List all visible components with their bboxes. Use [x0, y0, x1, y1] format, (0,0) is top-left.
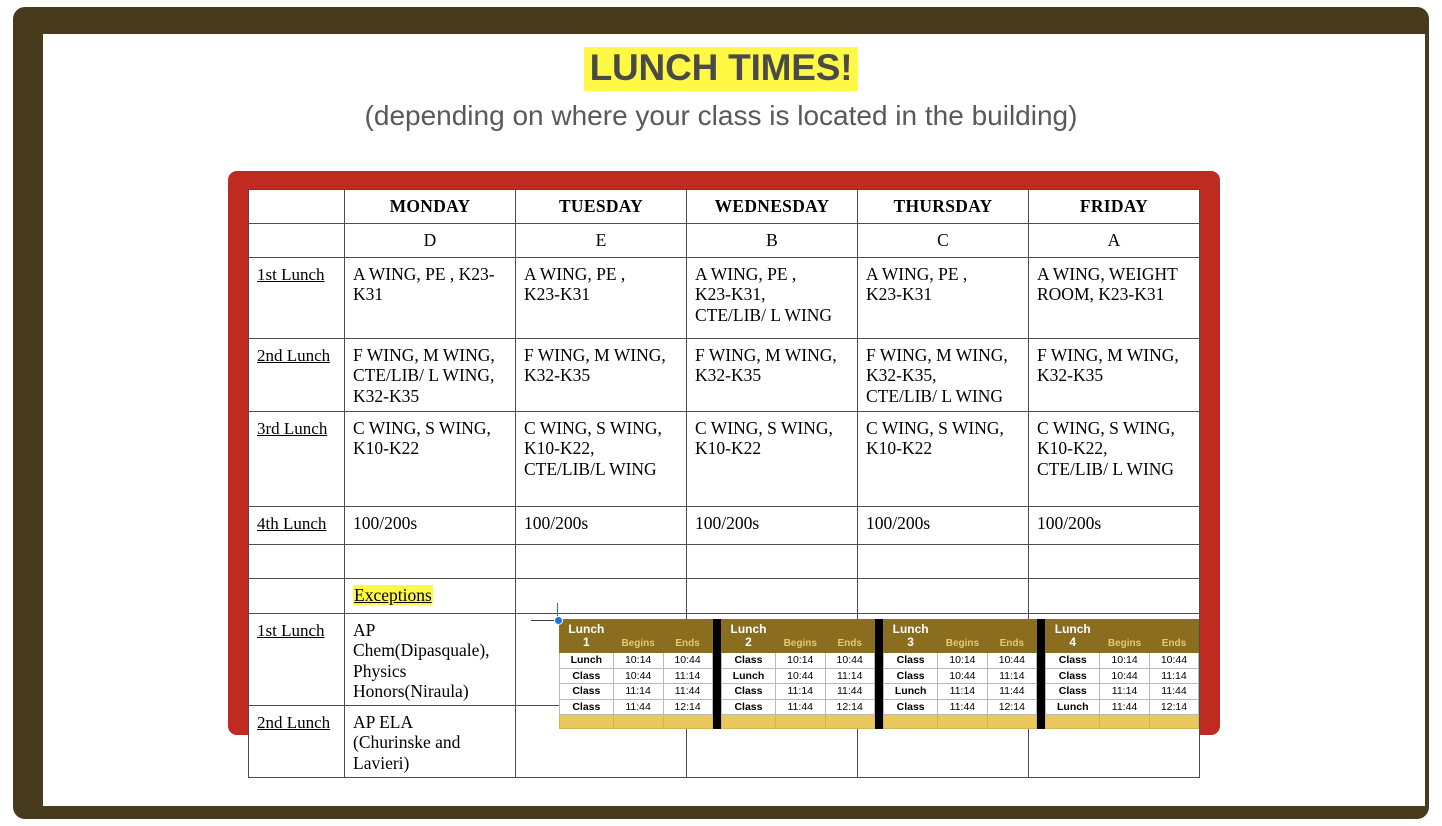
schedule-cell-r1-c3: F WING, M WING, K32-K35, CTE/LIB/ L WING: [858, 339, 1029, 412]
lunch-period-table-2: Lunch2BeginsEndsClass10:1410:44Lunch10:4…: [721, 619, 875, 729]
lunch-row-begins: 10:44: [613, 668, 663, 684]
lunch-table-title-1: Lunch1: [560, 620, 614, 653]
lunch-row-begins: 11:14: [775, 684, 825, 700]
schedule-cell-r3-c4-text: 100/200s: [1037, 513, 1101, 533]
page-title: LUNCH TIMES!: [584, 47, 859, 91]
lunch-footer-cell: [987, 715, 1036, 729]
lunch-row-name: Lunch: [722, 668, 776, 684]
schedule-cell-r0-c2: A WING, PE , K23-K31, CTE/LIB/ L WING: [687, 258, 858, 339]
lunch-row-ends: 12:14: [663, 699, 712, 715]
lunch-table-row: Lunch11:4412:14: [1046, 699, 1199, 715]
schedule-cell-r0-c4-text: A WING, WEIGHT ROOM, K23-K31: [1037, 264, 1178, 304]
day-letter-wednesday: B: [687, 224, 858, 258]
lunch-row-ends: 10:44: [663, 653, 712, 669]
lunch-footer-cell: [825, 715, 874, 729]
lunch-table-row: Class10:1410:44: [884, 653, 1037, 669]
lunch-table-header-row: Lunch3BeginsEnds: [884, 620, 1037, 653]
lunch-row-name: Class: [560, 699, 614, 715]
day-header-thursday: THURSDAY: [858, 190, 1029, 224]
day-header-friday: FRIDAY: [1029, 190, 1200, 224]
lunch-table-separator: [875, 619, 884, 729]
lunch-row-ends: 11:44: [1149, 684, 1198, 700]
schedule-cell-r0-c0-text: A WING, PE , K23-K31: [353, 264, 495, 304]
schedule-cell-r4-c3: [858, 545, 1029, 579]
lunch-period-table-1: Lunch1BeginsEndsLunch10:1410:44Class10:4…: [559, 619, 713, 729]
lunch-row-begins: 11:44: [613, 699, 663, 715]
lunch-footer-cell: [884, 715, 938, 729]
row-label-text: 4th Lunch: [257, 514, 326, 533]
schedule-cell-r2-c4: C WING, S WING, K10-K22, CTE/LIB/ L WING: [1029, 412, 1200, 507]
lunch-row-begins: 11:14: [613, 684, 663, 700]
schedule-cell-r4-c1: [516, 545, 687, 579]
lunch-row-ends: 10:44: [825, 653, 874, 669]
lunch-row-begins: 11:14: [937, 684, 987, 700]
exceptions-header-cell: Exceptions: [345, 579, 516, 614]
lunch-row-name: Class: [884, 668, 938, 684]
lunch-row-begins: 10:44: [1100, 668, 1150, 684]
schedule-cell-r4-c0: [345, 545, 516, 579]
lunch-footer-cell: [775, 715, 825, 729]
lunch-table-footer-band: [884, 715, 1037, 729]
exception-label-1st-lunch: 1st Lunch: [249, 614, 345, 706]
selection-guide-tick: [557, 603, 558, 616]
exceptions-corner-cell: [249, 579, 345, 614]
lunch-table-title-4: Lunch4: [1046, 620, 1100, 653]
lunch-footer-cell: [1046, 715, 1100, 729]
lunch-table-footer-band: [560, 715, 713, 729]
lunch-title-line2: 3: [884, 636, 937, 648]
schedule-cell-r3-c3: 100/200s: [858, 507, 1029, 545]
row-label-text: 1st Lunch: [257, 265, 325, 284]
exception-text-0-text: AP Chem(Dipasquale), Physics Honors(Nira…: [353, 620, 490, 701]
lunch-table-row: Class10:1410:44: [722, 653, 875, 669]
day-letter-friday: A: [1029, 224, 1200, 258]
lunch-col-header-begins: Begins: [775, 620, 825, 653]
lunch-table-row: Class10:4411:14: [884, 668, 1037, 684]
lunch-table-block-1: Lunch1BeginsEndsLunch10:1410:44Class10:4…: [559, 619, 721, 729]
schedule-cell-r2-c3-text: C WING, S WING, K10-K22: [866, 418, 1004, 458]
schedule-cell-r2-c2: C WING, S WING, K10-K22: [687, 412, 858, 507]
schedule-header-row: MONDAYTUESDAYWEDNESDAYTHURSDAYFRIDAY: [249, 190, 1200, 224]
lunch-table-row: Lunch10:1410:44: [560, 653, 713, 669]
lunch-title-line1: Lunch: [884, 623, 937, 635]
lunch-footer-cell: [937, 715, 987, 729]
lunch-row-name: Class: [560, 668, 614, 684]
lunch-row-name: Class: [1046, 653, 1100, 669]
lunch-table-header-row: Lunch4BeginsEnds: [1046, 620, 1199, 653]
lunch-row-ends: 10:44: [1149, 653, 1198, 669]
lunch-table-separator: [1037, 619, 1046, 729]
lunch-row-name: Class: [722, 653, 776, 669]
lunch-footer-cell: [663, 715, 712, 729]
lunch-table-title-3: Lunch3: [884, 620, 938, 653]
lunch-table-row: Class11:4412:14: [722, 699, 875, 715]
lunch-table-title-2: Lunch2: [722, 620, 776, 653]
exceptions-header-row: Exceptions: [249, 579, 1200, 614]
schedule-row-blank: [249, 545, 1200, 579]
schedule-row-1st-lunch: 1st LunchA WING, PE , K23-K31A WING, PE …: [249, 258, 1200, 339]
day-letter-thursday: C: [858, 224, 1029, 258]
exception-text-1: AP ELA (Churinske and Lavieri): [345, 706, 516, 778]
lunch-row-ends: 11:14: [825, 668, 874, 684]
lunch-period-tables-group: Lunch1BeginsEndsLunch10:1410:44Class10:4…: [559, 619, 1199, 729]
day-letter-corner-cell: [249, 224, 345, 258]
lunch-footer-cell: [1100, 715, 1150, 729]
lunch-col-header-ends: Ends: [1149, 620, 1198, 653]
lunch-row-begins: 11:14: [1100, 684, 1150, 700]
exception-label-2nd-lunch: 2nd Lunch: [249, 706, 345, 778]
day-header-wednesday-text: WEDNESDAY: [715, 196, 830, 216]
lunch-table-row: Class10:1410:44: [1046, 653, 1199, 669]
lunch-table-block-2: Lunch2BeginsEndsClass10:1410:44Lunch10:4…: [721, 619, 883, 729]
lunch-table-row: Lunch11:1411:44: [884, 684, 1037, 700]
lunch-row-name: Class: [884, 699, 938, 715]
lunch-table-block-4: Lunch4BeginsEndsClass10:1410:44Class10:4…: [1045, 619, 1199, 729]
lunch-title-line1: Lunch: [1046, 623, 1099, 635]
lunch-row-ends: 12:14: [1149, 699, 1198, 715]
day-letter-wednesday-text: B: [766, 230, 778, 250]
lunch-title-line1: Lunch: [722, 623, 775, 635]
lunch-row-name: Class: [1046, 684, 1100, 700]
lunch-row-begins: 10:14: [937, 653, 987, 669]
day-header-tuesday-text: TUESDAY: [559, 196, 643, 216]
schedule-table-frame: MONDAYTUESDAYWEDNESDAYTHURSDAYFRIDAYDEBC…: [228, 171, 1220, 735]
lunch-footer-cell: [722, 715, 776, 729]
lunch-title-line2: 2: [722, 636, 775, 648]
schedule-cell-r2-c3: C WING, S WING, K10-K22: [858, 412, 1029, 507]
row-label-3rd-lunch: 3rd Lunch: [249, 412, 345, 507]
schedule-cell-r2-c0-text: C WING, S WING, K10-K22: [353, 418, 491, 458]
row-label-1st-lunch: 1st Lunch: [249, 258, 345, 339]
lunch-row-begins: 10:14: [1100, 653, 1150, 669]
lunch-row-name: Lunch: [560, 653, 614, 669]
lunch-table-row: Class10:4411:14: [1046, 668, 1199, 684]
schedule-cell-r0-c4: A WING, WEIGHT ROOM, K23-K31: [1029, 258, 1200, 339]
lunch-col-header-begins: Begins: [613, 620, 663, 653]
lunch-row-begins: 10:44: [937, 668, 987, 684]
lunch-col-header-ends: Ends: [825, 620, 874, 653]
schedule-cell-r0-c2-text: A WING, PE , K23-K31, CTE/LIB/ L WING: [695, 264, 832, 325]
lunch-row-ends: 12:14: [825, 699, 874, 715]
day-letter-monday-text: D: [424, 230, 437, 250]
day-header-monday: MONDAY: [345, 190, 516, 224]
lunch-row-ends: 11:14: [987, 668, 1036, 684]
schedule-cell-r3-c4: 100/200s: [1029, 507, 1200, 545]
lunch-col-header-begins: Begins: [1100, 620, 1150, 653]
lunch-row-ends: 11:44: [663, 684, 712, 700]
schedule-cell-r0-c1-text: A WING, PE , K23-K31: [524, 264, 625, 304]
schedule-cell-r1-c2-text: F WING, M WING, K32-K35: [695, 345, 837, 385]
lunch-table-row: Class11:4412:14: [884, 699, 1037, 715]
lunch-col-header-ends: Ends: [663, 620, 712, 653]
lunch-table-row: Lunch10:4411:14: [722, 668, 875, 684]
schedule-row-3rd-lunch: 3rd LunchC WING, S WING, K10-K22C WING, …: [249, 412, 1200, 507]
exception-text-1-text: AP ELA (Churinske and Lavieri): [353, 712, 460, 773]
schedule-cell-r1-c2: F WING, M WING, K32-K35: [687, 339, 858, 412]
row-label-text: 3rd Lunch: [257, 419, 327, 438]
lunch-row-ends: 11:14: [663, 668, 712, 684]
lunch-row-begins: 10:14: [775, 653, 825, 669]
lunch-table-footer-band: [1046, 715, 1199, 729]
schedule-cell-r0-c0: A WING, PE , K23-K31: [345, 258, 516, 339]
day-header-monday-text: MONDAY: [390, 196, 471, 216]
lunch-col-header-begins: Begins: [937, 620, 987, 653]
selection-handle-dot[interactable]: [554, 616, 563, 625]
lunch-row-begins: 10:14: [613, 653, 663, 669]
schedule-cell-r1-c1-text: F WING, M WING, K32-K35: [524, 345, 666, 385]
day-letter-tuesday: E: [516, 224, 687, 258]
schedule-row-4th-lunch: 4th Lunch100/200s100/200s100/200s100/200…: [249, 507, 1200, 545]
schedule-row-2nd-lunch: 2nd LunchF WING, M WING, CTE/LIB/ L WING…: [249, 339, 1200, 412]
day-letter-tuesday-text: E: [596, 230, 607, 250]
schedule-cell-r4-c4: [1029, 545, 1200, 579]
lunch-row-name: Class: [884, 653, 938, 669]
schedule-table-inner: MONDAYTUESDAYWEDNESDAYTHURSDAYFRIDAYDEBC…: [248, 189, 1199, 717]
exception-text-0: AP Chem(Dipasquale), Physics Honors(Nira…: [345, 614, 516, 706]
lunch-title-line1: Lunch: [560, 623, 613, 635]
schedule-cell-r3-c1-text: 100/200s: [524, 513, 588, 533]
lunch-row-ends: 10:44: [987, 653, 1036, 669]
exceptions-empty-c1: [516, 579, 687, 614]
schedule-cell-r3-c0: 100/200s: [345, 507, 516, 545]
day-header-tuesday: TUESDAY: [516, 190, 687, 224]
schedule-cell-r0-c3: A WING, PE , K23-K31: [858, 258, 1029, 339]
lunch-footer-cell: [560, 715, 614, 729]
lunch-table-footer-band: [722, 715, 875, 729]
schedule-cell-r1-c0: F WING, M WING, CTE/LIB/ L WING, K32-K35: [345, 339, 516, 412]
schedule-cell-r1-c4: F WING, M WING, K32-K35: [1029, 339, 1200, 412]
schedule-cell-r1-c4-text: F WING, M WING, K32-K35: [1037, 345, 1179, 385]
lunch-table-row: Class11:4412:14: [560, 699, 713, 715]
lunch-footer-cell: [1149, 715, 1198, 729]
lunch-period-table-4: Lunch4BeginsEndsClass10:1410:44Class10:4…: [1045, 619, 1199, 729]
schedule-cell-r4-c2: [687, 545, 858, 579]
schedule-cell-r2-c1-text: C WING, S WING, K10-K22, CTE/LIB/L WING: [524, 418, 662, 479]
lunch-row-name: Class: [722, 684, 776, 700]
schedule-cell-r3-c0-text: 100/200s: [353, 513, 417, 533]
lunch-row-ends: 12:14: [987, 699, 1036, 715]
lunch-row-name: Lunch: [1046, 699, 1100, 715]
lunch-row-ends: 11:44: [987, 684, 1036, 700]
lunch-title-line2: 4: [1046, 636, 1099, 648]
day-letter-row: DEBCA: [249, 224, 1200, 258]
day-header-wednesday: WEDNESDAY: [687, 190, 858, 224]
lunch-row-begins: 11:44: [775, 699, 825, 715]
day-header-friday-text: FRIDAY: [1080, 196, 1148, 216]
schedule-cell-r1-c3-text: F WING, M WING, K32-K35, CTE/LIB/ L WING: [866, 345, 1008, 406]
schedule-cell-r2-c0: C WING, S WING, K10-K22: [345, 412, 516, 507]
schedule-corner-cell: [249, 190, 345, 224]
lunch-row-begins: 10:44: [775, 668, 825, 684]
exceptions-label: Exceptions: [353, 585, 433, 605]
lunch-row-name: Class: [1046, 668, 1100, 684]
schedule-cell-r3-c2-text: 100/200s: [695, 513, 759, 533]
page-subtitle: (depending on where your class is locate…: [0, 100, 1442, 132]
exception-label-text: 2nd Lunch: [257, 713, 330, 732]
day-letter-friday-text: A: [1108, 230, 1121, 250]
schedule-cell-r3-c2: 100/200s: [687, 507, 858, 545]
lunch-table-row: Class11:1411:44: [560, 684, 713, 700]
lunch-table-block-3: Lunch3BeginsEndsClass10:1410:44Class10:4…: [883, 619, 1045, 729]
schedule-cell-r0-c1: A WING, PE , K23-K31: [516, 258, 687, 339]
day-letter-monday: D: [345, 224, 516, 258]
lunch-row-begins: 11:44: [937, 699, 987, 715]
lunch-row-name: Class: [722, 699, 776, 715]
schedule-cell-r1-c0-text: F WING, M WING, CTE/LIB/ L WING, K32-K35: [353, 345, 495, 406]
lunch-table-header-row: Lunch1BeginsEnds: [560, 620, 713, 653]
lunch-period-table-3: Lunch3BeginsEndsClass10:1410:44Class10:4…: [883, 619, 1037, 729]
schedule-cell-r2-c4-text: C WING, S WING, K10-K22, CTE/LIB/ L WING: [1037, 418, 1175, 479]
exception-label-text: 1st Lunch: [257, 621, 325, 640]
lunch-row-name: Lunch: [884, 684, 938, 700]
lunch-table-row: Class11:1411:44: [722, 684, 875, 700]
lunch-table-header-row: Lunch2BeginsEnds: [722, 620, 875, 653]
lunch-row-ends: 11:14: [1149, 668, 1198, 684]
lunch-row-begins: 11:44: [1100, 699, 1150, 715]
schedule-cell-r0-c3-text: A WING, PE , K23-K31: [866, 264, 967, 304]
lunch-footer-cell: [613, 715, 663, 729]
lunch-title-line2: 1: [560, 636, 613, 648]
schedule-cell-r2-c2-text: C WING, S WING, K10-K22: [695, 418, 833, 458]
exceptions-empty-c2: [687, 579, 858, 614]
lunch-table-row: Class10:4411:14: [560, 668, 713, 684]
lunch-col-header-ends: Ends: [987, 620, 1036, 653]
schedule-cell-r3-c3-text: 100/200s: [866, 513, 930, 533]
exceptions-empty-c3: [858, 579, 1029, 614]
row-label-text: 2nd Lunch: [257, 346, 330, 365]
lunch-row-name: Class: [560, 684, 614, 700]
schedule-cell-r2-c1: C WING, S WING, K10-K22, CTE/LIB/L WING: [516, 412, 687, 507]
row-label-blank: [249, 545, 345, 579]
lunch-table-row: Class11:1411:44: [1046, 684, 1199, 700]
lunch-row-ends: 11:44: [825, 684, 874, 700]
lunch-table-separator: [713, 619, 722, 729]
row-label-4th-lunch: 4th Lunch: [249, 507, 345, 545]
day-letter-thursday-text: C: [937, 230, 949, 250]
schedule-cell-r1-c1: F WING, M WING, K32-K35: [516, 339, 687, 412]
row-label-2nd-lunch: 2nd Lunch: [249, 339, 345, 412]
title-block: LUNCH TIMES! (depending on where your cl…: [0, 47, 1442, 132]
exceptions-empty-c4: [1029, 579, 1200, 614]
schedule-cell-r3-c1: 100/200s: [516, 507, 687, 545]
day-header-thursday-text: THURSDAY: [893, 196, 992, 216]
